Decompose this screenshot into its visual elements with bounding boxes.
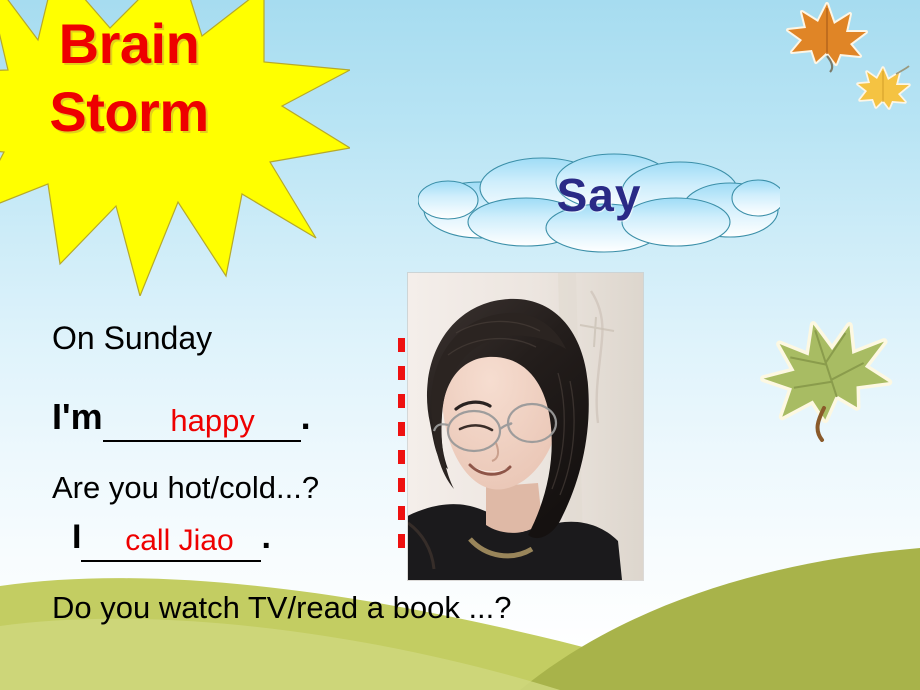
period-1: . [301,396,311,437]
sentence-on-sunday: On Sunday [52,320,212,357]
answer-blank-call-jiao[interactable]: call Jiao [81,524,261,562]
say-label: Say [418,168,780,222]
im-prefix: I'm [52,396,103,437]
sentence-im-blank: I'mhappy. [52,396,311,442]
maple-leaf-icon-green [760,318,900,442]
i-prefix: I [72,518,81,556]
brainstorm-line2: Storm [0,78,294,146]
brainstorm-title: Brain Storm [0,10,294,147]
brainstorm-starburst: Brain Storm [0,0,350,296]
leaf-stem [896,66,909,74]
sentence-question-2: Do you watch TV/read a book ...? [52,590,512,626]
sentence-i-blank: Icall Jiao. [72,518,271,562]
red-dashed-line [398,338,405,552]
girl-photo [408,273,643,580]
sentence-question-1: Are you hot/cold...? [52,470,319,506]
say-cloud-callout: Say [418,148,780,254]
maple-leaf-icon-yellow [855,64,911,116]
period-2: . [261,518,270,556]
slide-canvas: Brain Storm [0,0,920,690]
brainstorm-line1: Brain [0,10,294,78]
answer-blank-happy[interactable]: happy [103,403,301,442]
